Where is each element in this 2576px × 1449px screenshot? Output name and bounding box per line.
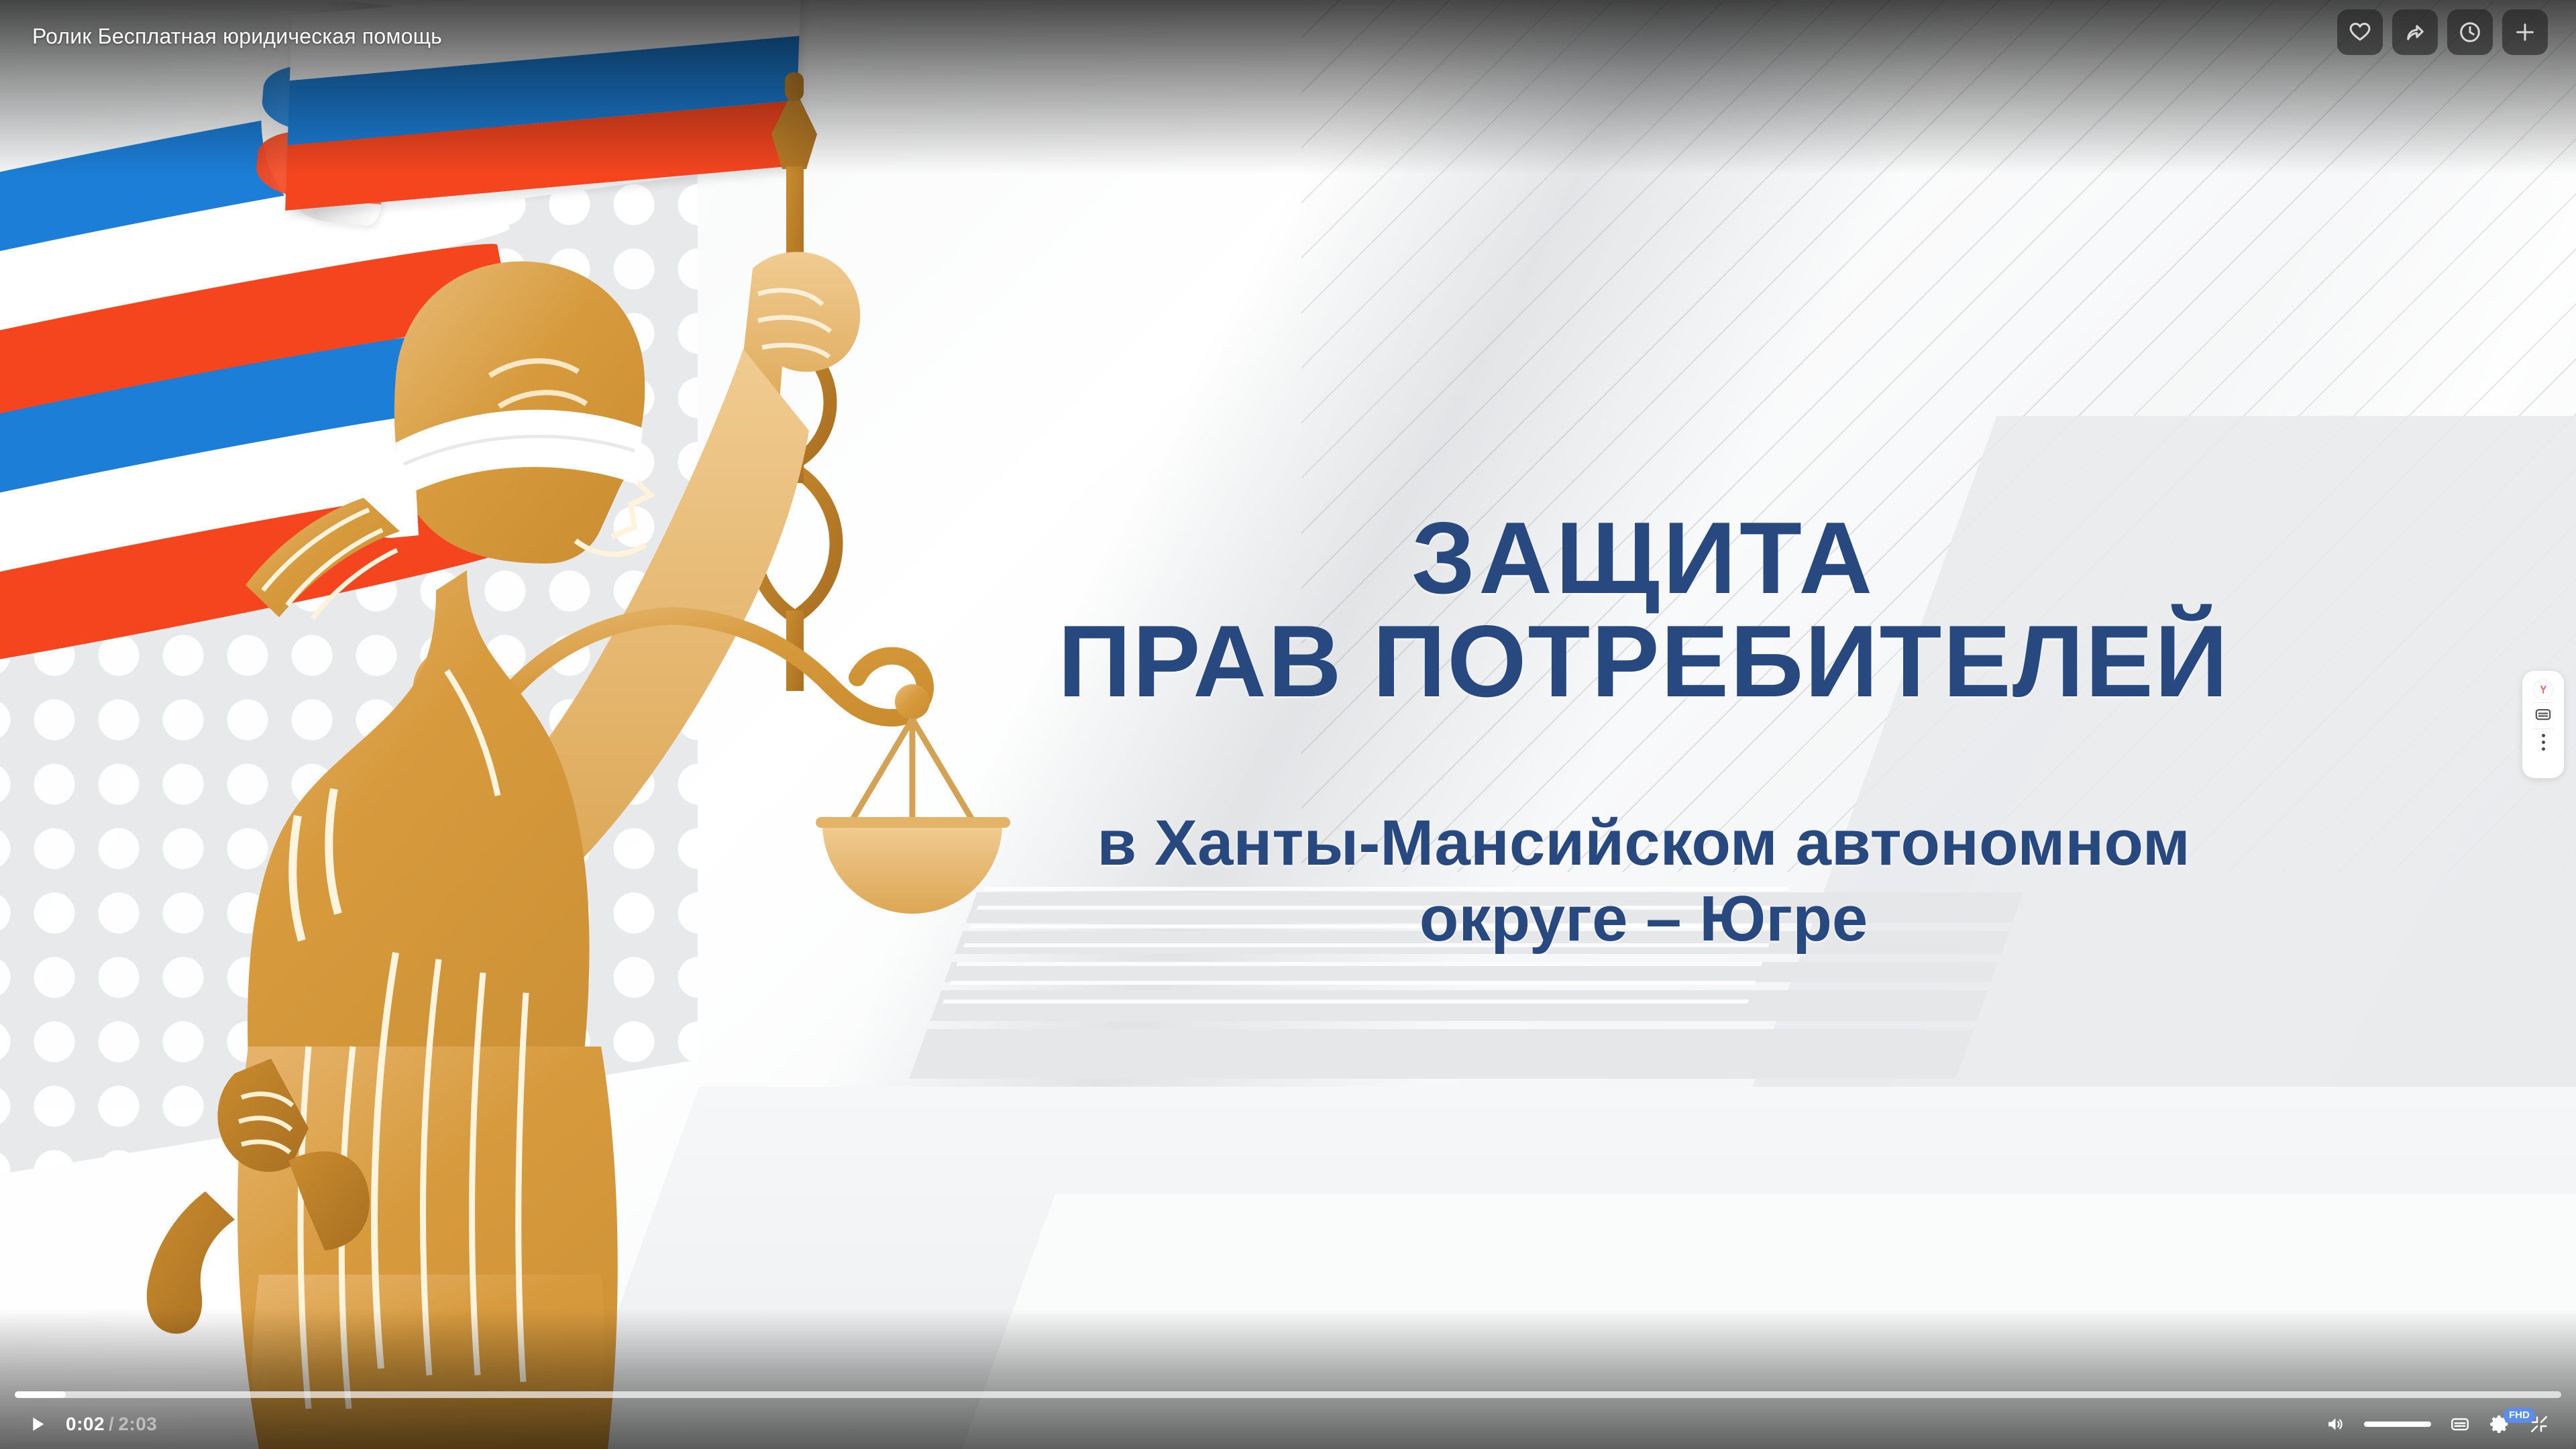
duration: 2:03 bbox=[118, 1413, 157, 1434]
slide-headline: ЗАЩИТА ПРАВ ПОТРЕБИТЕЛЕЙ bbox=[953, 510, 2334, 711]
share-button[interactable] bbox=[2392, 9, 2438, 55]
subtitles-icon bbox=[2534, 706, 2552, 727]
slide-subtitle: в Ханты-Мансийском автономном округе – Ю… bbox=[953, 805, 2334, 957]
plus-icon bbox=[2512, 19, 2538, 45]
watch-later-button[interactable] bbox=[2447, 9, 2493, 55]
seek-played bbox=[15, 1391, 66, 1398]
seek-bar[interactable] bbox=[0, 1390, 2576, 1399]
add-to-playlist-button[interactable] bbox=[2502, 9, 2548, 55]
more-vertical-icon bbox=[2542, 734, 2545, 751]
subtitle-line-1: в Ханты-Мансийском автономном bbox=[953, 805, 2334, 881]
control-bar-right: FHD bbox=[2325, 1413, 2549, 1435]
video-title: Ролик Бесплатная юридическая помощь bbox=[32, 24, 442, 49]
lady-justice-illustration bbox=[20, 0, 1026, 1449]
seek-track[interactable] bbox=[15, 1391, 2561, 1398]
share-arrow-icon bbox=[2402, 19, 2428, 45]
video-frame[interactable]: ЗАЩИТА ПРАВ ПОТРЕБИТЕЛЕЙ в Ханты-Мансийс… bbox=[0, 0, 2576, 1449]
yandex-logo-icon bbox=[2533, 680, 2553, 700]
clock-icon bbox=[2457, 19, 2483, 45]
settings-button[interactable]: FHD bbox=[2489, 1413, 2510, 1435]
play-button[interactable] bbox=[27, 1413, 48, 1435]
video-player: ЗАЩИТА ПРАВ ПОТРЕБИТЕЛЕЙ в Ханты-Мансийс… bbox=[0, 0, 2576, 1449]
subtitles-icon bbox=[2450, 1414, 2470, 1434]
volume-button[interactable] bbox=[2325, 1414, 2345, 1434]
control-bar: 0:02/2:03 bbox=[0, 1399, 2576, 1449]
top-action-bar bbox=[2337, 9, 2548, 55]
heart-icon bbox=[2347, 19, 2373, 45]
volume-slider[interactable] bbox=[2364, 1421, 2431, 1427]
more-options-button[interactable] bbox=[2522, 729, 2564, 755]
headline-line-1: ЗАЩИТА bbox=[953, 510, 2334, 608]
subtitles-toggle-button[interactable] bbox=[2450, 1414, 2470, 1434]
subtitles-button[interactable] bbox=[2522, 703, 2564, 729]
play-icon bbox=[27, 1413, 48, 1435]
like-button[interactable] bbox=[2337, 9, 2383, 55]
volume-icon bbox=[2325, 1414, 2345, 1434]
quality-badge: FHD bbox=[2504, 1408, 2535, 1423]
subtitle-line-2: округе – Югре bbox=[953, 881, 2334, 957]
current-time: 0:02 bbox=[66, 1413, 105, 1434]
yandex-logo-button[interactable] bbox=[2522, 677, 2564, 702]
time-separator: / bbox=[105, 1413, 118, 1434]
headline-line-2: ПРАВ ПОТРЕБИТЕЛЕЙ bbox=[953, 613, 2334, 711]
time-display: 0:02/2:03 bbox=[66, 1413, 157, 1435]
volume-slider-fill bbox=[2364, 1421, 2431, 1427]
seek-buffered bbox=[15, 1391, 2561, 1398]
control-bar-left: 0:02/2:03 bbox=[27, 1413, 157, 1435]
side-panel bbox=[2522, 671, 2564, 778]
